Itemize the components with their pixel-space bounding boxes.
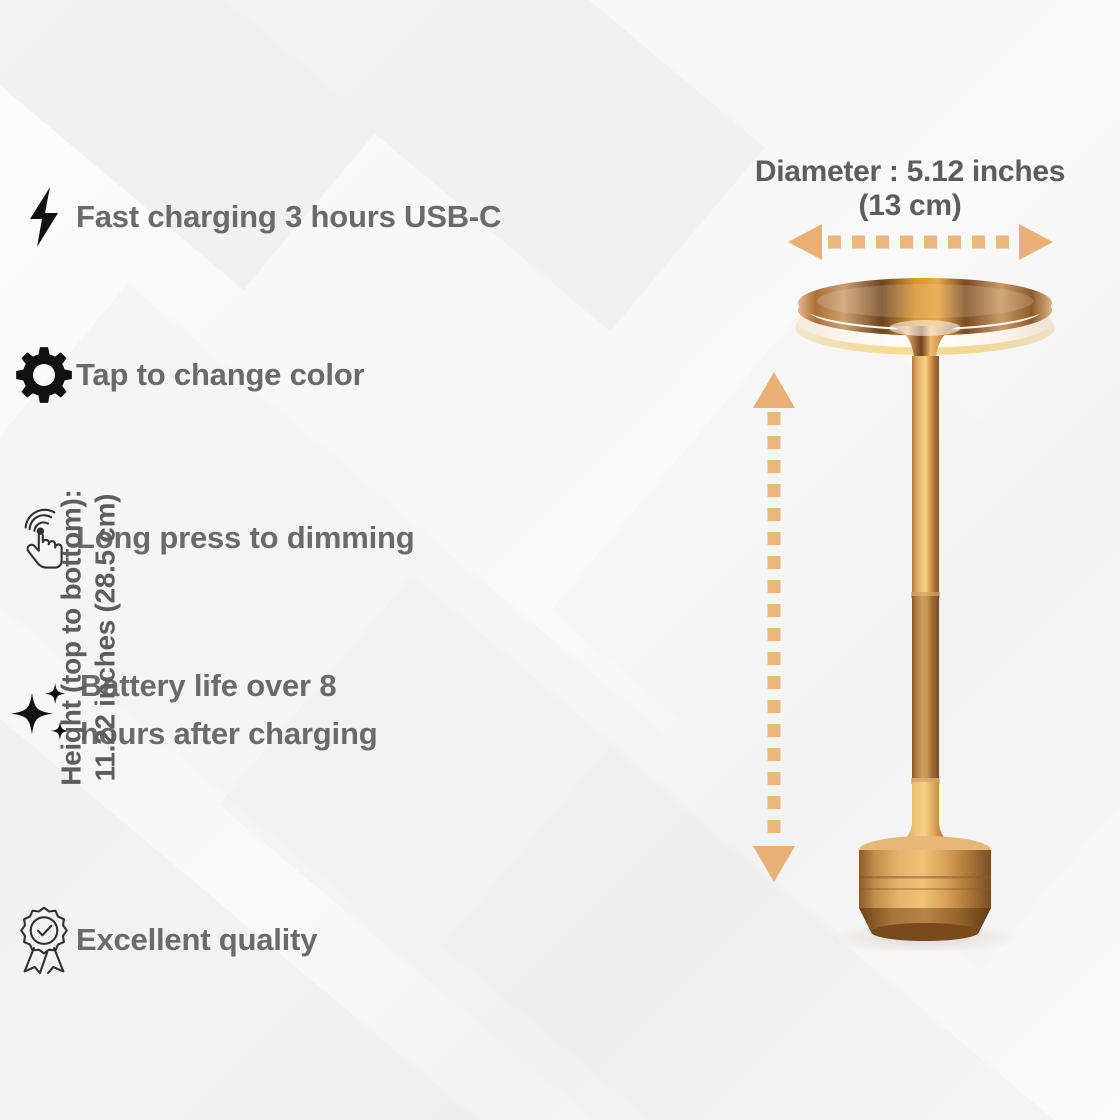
lightning-bolt-icon — [12, 186, 76, 248]
arrow-head-right — [1019, 224, 1053, 260]
feature-item-fast-charging: Fast charging 3 hours USB-C — [12, 186, 501, 248]
horizontal-double-arrow-icon — [788, 222, 1053, 262]
feature-item-change-color: Tap to change color — [12, 346, 364, 404]
product-image-table-lamp — [760, 270, 1090, 950]
lamp-base-ridge-2 — [859, 888, 991, 890]
feature-label: Battery life over 8 hours after charging — [80, 662, 377, 758]
arrow-head-left — [788, 224, 822, 260]
lamp-stem-middle — [912, 596, 939, 782]
lamp-neck-collar — [889, 320, 961, 336]
diameter-dimension-group: Diameter : 5.12 inches (13 cm) — [700, 155, 1120, 223]
feature-label: Excellent quality — [76, 919, 317, 961]
diameter-label: Diameter : 5.12 inches (13 cm) — [700, 155, 1120, 223]
feature-label: Fast charging 3 hours USB-C — [76, 196, 501, 238]
lamp-base-ridge-1 — [859, 876, 991, 879]
lamp-base-foot — [871, 923, 979, 941]
arrow-head-top — [753, 372, 795, 408]
lamp-base-body — [859, 850, 991, 908]
arrow-head-bottom — [753, 846, 795, 882]
feature-label: Tap to change color — [76, 354, 364, 396]
height-label: Height (top to bottom): 11.22 inches (28… — [54, 418, 121, 858]
lamp-shade-top-highlight — [817, 284, 1033, 318]
vertical-double-arrow-icon — [752, 372, 796, 882]
lamp-stem-upper — [912, 356, 939, 596]
feature-label: Long press to dimming — [76, 517, 415, 559]
award-ribbon-icon — [12, 905, 76, 975]
gear-icon — [12, 346, 76, 404]
feature-item-excellent-quality: Excellent quality — [12, 905, 317, 975]
